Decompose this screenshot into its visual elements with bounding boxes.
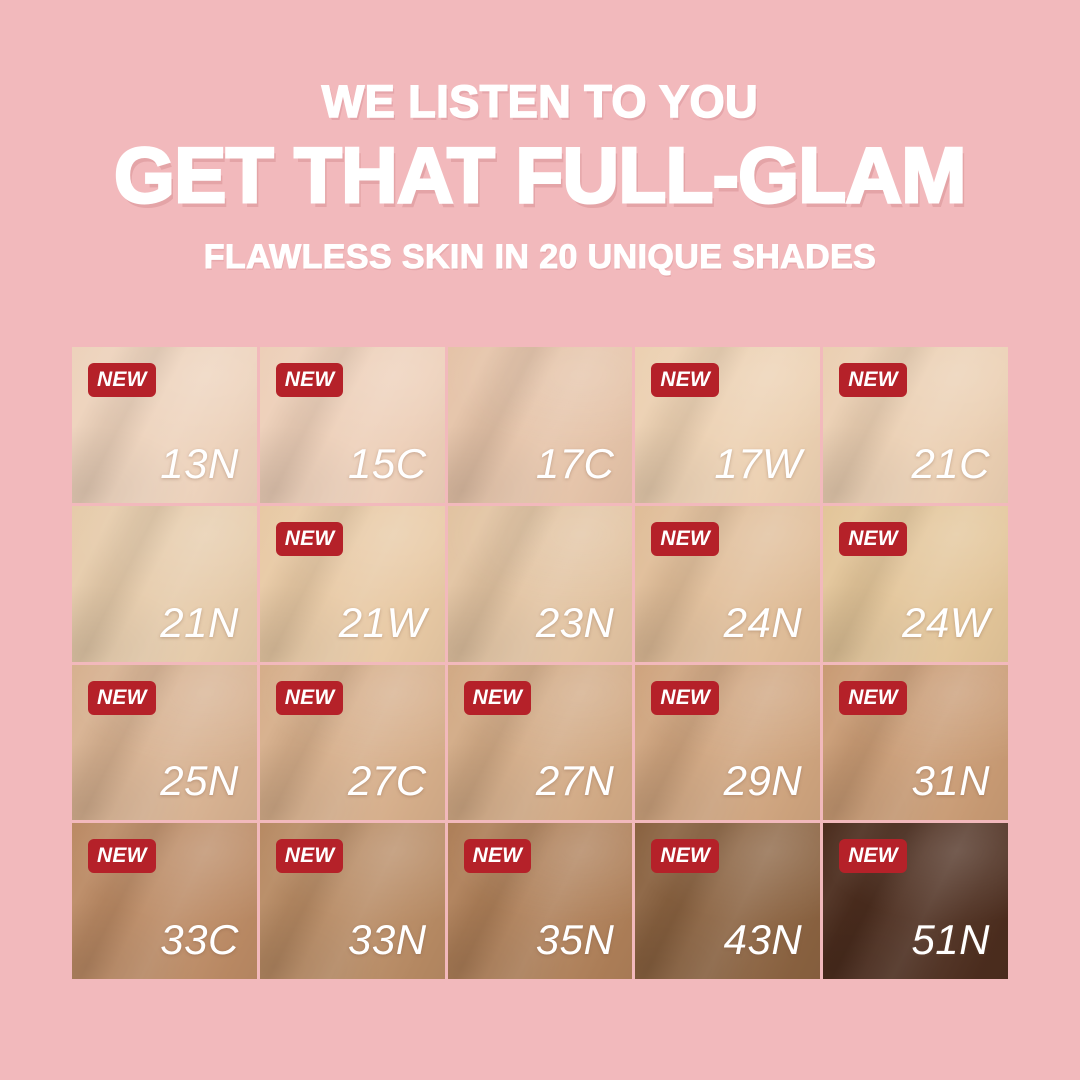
shade-code-label: 21W <box>339 602 427 644</box>
new-badge: NEW <box>464 681 532 715</box>
shade-swatch-25n[interactable]: NEW25N <box>72 665 257 821</box>
new-badge: NEW <box>651 522 719 556</box>
shade-code-label: 33N <box>348 919 427 961</box>
new-badge: NEW <box>651 839 719 873</box>
shade-swatch-51n[interactable]: NEW51N <box>823 823 1008 979</box>
shade-code-label: 17C <box>536 443 615 485</box>
new-badge: NEW <box>839 522 907 556</box>
new-badge: NEW <box>88 681 156 715</box>
shade-range-poster: WE LISTEN TO YOU GET THAT FULL-GLAM FLAW… <box>0 0 1080 1080</box>
shade-swatch-35n[interactable]: NEW35N <box>448 823 633 979</box>
shade-code-label: 24W <box>902 602 990 644</box>
new-badge: NEW <box>839 839 907 873</box>
shade-swatch-31n[interactable]: NEW31N <box>823 665 1008 821</box>
shade-swatch-13n[interactable]: NEW13N <box>72 347 257 503</box>
shade-swatch-15c[interactable]: NEW15C <box>260 347 445 503</box>
eyebrow-text: WE LISTEN TO YOU <box>0 78 1080 125</box>
shade-code-label: 33C <box>160 919 239 961</box>
new-badge: NEW <box>651 363 719 397</box>
new-badge: NEW <box>276 522 344 556</box>
shade-code-label: 29N <box>724 760 803 802</box>
shade-swatch-27n[interactable]: NEW27N <box>448 665 633 821</box>
shade-code-label: 21N <box>160 602 239 644</box>
new-badge: NEW <box>839 363 907 397</box>
shade-swatch-23n[interactable]: 23N <box>448 506 633 662</box>
new-badge: NEW <box>276 681 344 715</box>
shade-swatch-24n[interactable]: NEW24N <box>635 506 820 662</box>
shade-code-label: 25N <box>160 760 239 802</box>
shade-code-label: 27N <box>536 760 615 802</box>
shade-swatch-17w[interactable]: NEW17W <box>635 347 820 503</box>
shade-swatch-21n[interactable]: 21N <box>72 506 257 662</box>
page-title: GET THAT FULL-GLAM <box>0 133 1080 217</box>
subtitle-text: FLAWLESS SKIN IN 20 UNIQUE SHADES <box>0 239 1080 276</box>
new-badge: NEW <box>276 363 344 397</box>
shade-swatch-27c[interactable]: NEW27C <box>260 665 445 821</box>
shade-swatch-33c[interactable]: NEW33C <box>72 823 257 979</box>
new-badge: NEW <box>276 839 344 873</box>
shade-swatch-29n[interactable]: NEW29N <box>635 665 820 821</box>
shade-code-label: 35N <box>536 919 615 961</box>
new-badge: NEW <box>651 681 719 715</box>
new-badge: NEW <box>88 363 156 397</box>
new-badge: NEW <box>464 839 532 873</box>
shade-swatch-33n[interactable]: NEW33N <box>260 823 445 979</box>
shade-swatch-17c[interactable]: 17C <box>448 347 633 503</box>
shade-code-label: 27C <box>348 760 427 802</box>
shade-code-label: 31N <box>911 760 990 802</box>
shade-code-label: 17W <box>714 443 802 485</box>
new-badge: NEW <box>839 681 907 715</box>
shade-code-label: 13N <box>160 443 239 485</box>
shade-swatch-43n[interactable]: NEW43N <box>635 823 820 979</box>
shade-swatch-grid: NEW13NNEW15C17CNEW17WNEW21C21NNEW21W23NN… <box>72 347 1008 979</box>
shade-swatch-21w[interactable]: NEW21W <box>260 506 445 662</box>
shade-code-label: 51N <box>911 919 990 961</box>
shade-swatch-24w[interactable]: NEW24W <box>823 506 1008 662</box>
shade-code-label: 21C <box>911 443 990 485</box>
shade-code-label: 24N <box>724 602 803 644</box>
shade-code-label: 23N <box>536 602 615 644</box>
shade-code-label: 43N <box>724 919 803 961</box>
shade-swatch-21c[interactable]: NEW21C <box>823 347 1008 503</box>
header-block: WE LISTEN TO YOU GET THAT FULL-GLAM FLAW… <box>0 78 1080 277</box>
new-badge: NEW <box>88 839 156 873</box>
shade-code-label: 15C <box>348 443 427 485</box>
